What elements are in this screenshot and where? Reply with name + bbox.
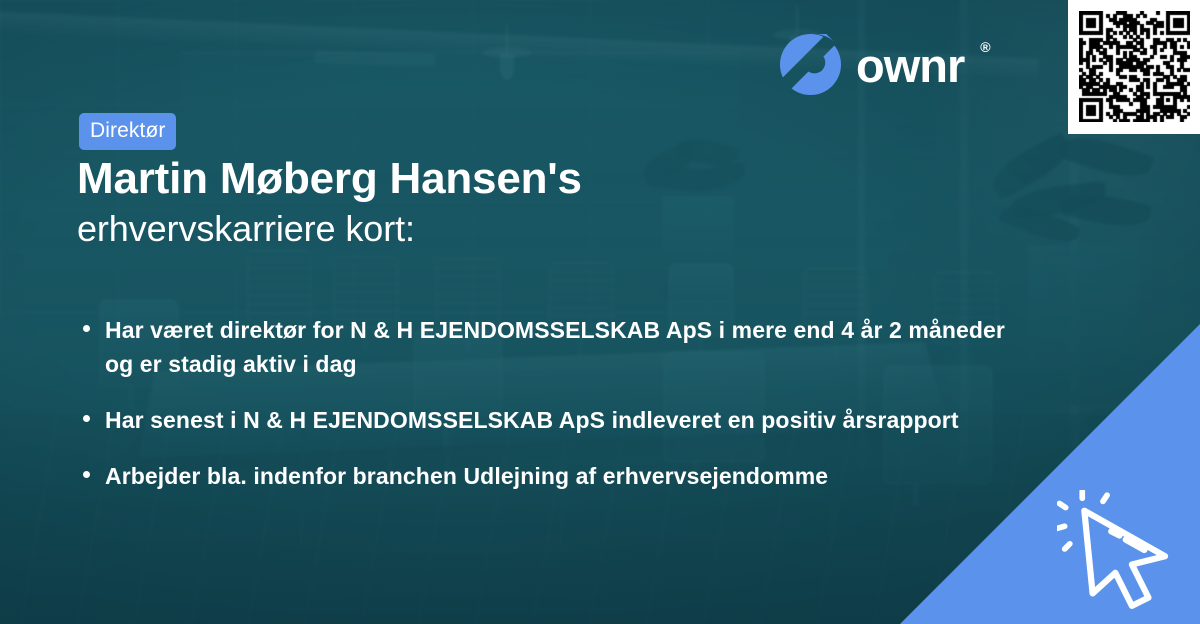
bullet-dot-icon	[83, 415, 90, 422]
qr-code-icon[interactable]	[1079, 11, 1190, 122]
business-card-banner: Direktør Martin Møberg Hansen's erhvervs…	[0, 0, 1200, 624]
list-item: Arbejder bla. indenfor branchen Udlejnin…	[78, 459, 1008, 493]
list-item-text: Har senest i N & H EJENDOMSSELSKAB ApS i…	[105, 407, 959, 433]
page-title: Martin Møberg Hansen's erhvervskarriere …	[77, 155, 977, 250]
ownr-wordmark: ownr	[856, 42, 964, 89]
page-title-line-2: erhvervskarriere kort:	[77, 207, 977, 251]
qr-code-panel[interactable]	[1068, 0, 1200, 134]
list-item-text: Arbejder bla. indenfor branchen Udlejnin…	[105, 463, 828, 489]
page-title-line-1: Martin Møberg Hansen's	[77, 155, 977, 203]
ownr-logo[interactable]: ownr ®	[779, 33, 989, 96]
role-badge: Direktør	[79, 113, 176, 150]
bullet-dot-icon	[83, 325, 90, 332]
list-item-text: Har været direktør for N & H EJENDOMSSEL…	[105, 317, 1005, 377]
list-item: Har været direktør for N & H EJENDOMSSEL…	[78, 313, 1008, 381]
click-cursor-icon	[1057, 490, 1182, 610]
registered-trademark-icon: ®	[980, 39, 990, 55]
career-summary-list: Har været direktør for N & H EJENDOMSSEL…	[78, 313, 1008, 493]
bullet-dot-icon	[83, 471, 90, 478]
ownr-swirl-circle-icon	[779, 33, 842, 96]
list-item: Har senest i N & H EJENDOMSSELSKAB ApS i…	[78, 403, 1008, 437]
